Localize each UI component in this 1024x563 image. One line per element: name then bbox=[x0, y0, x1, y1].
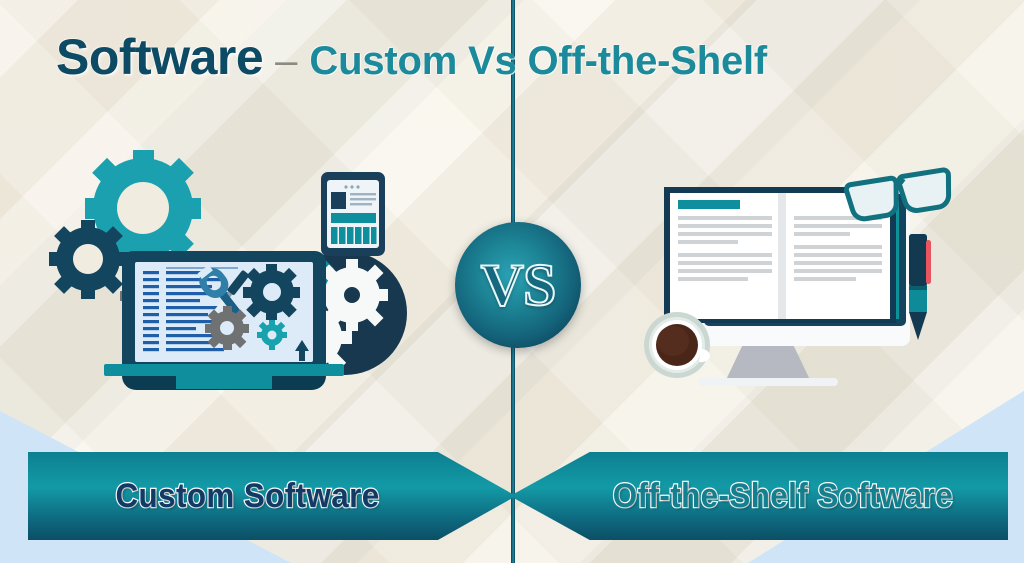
screen-gear-gray bbox=[205, 306, 249, 350]
vs-badge: VS bbox=[455, 222, 581, 348]
coffee-cup-icon bbox=[644, 312, 710, 378]
laptop-with-code bbox=[104, 251, 344, 390]
code-lines-top-rules bbox=[166, 267, 238, 269]
page-title-dash: – bbox=[263, 39, 309, 84]
page-title-light: Custom Vs Off-the-Shelf bbox=[309, 39, 767, 84]
banner-off-the-shelf-software-label: Off-the-Shelf Software bbox=[613, 477, 953, 516]
screen-gear-navy bbox=[243, 264, 300, 320]
pen-icon bbox=[909, 234, 931, 340]
dark-navy-gear bbox=[49, 220, 128, 299]
page-title-strong: Software bbox=[56, 28, 263, 86]
vs-badge-label: VS bbox=[481, 251, 556, 320]
banner-custom-software-label: Custom Software bbox=[116, 477, 380, 516]
infographic-canvas: Software – Custom Vs Off-the-Shelf bbox=[0, 0, 1024, 563]
banner-custom-software[interactable]: Custom Software bbox=[28, 452, 516, 540]
tablet-device bbox=[321, 172, 385, 256]
book-heading-bar bbox=[678, 200, 740, 209]
banner-off-the-shelf-software[interactable]: Off-the-Shelf Software bbox=[510, 452, 1008, 540]
monitor-stand bbox=[725, 340, 811, 382]
page-title: Software – Custom Vs Off-the-Shelf bbox=[56, 28, 767, 86]
